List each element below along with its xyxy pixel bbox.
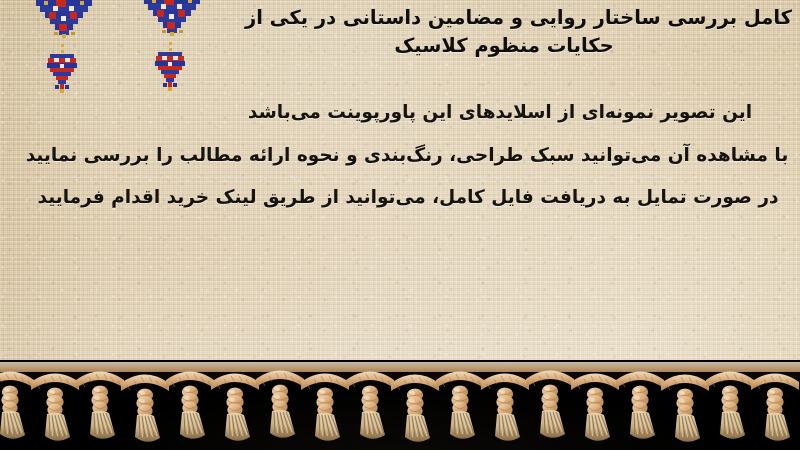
slide-body-line-3: در صورت تمایل به دریافت فایل کامل، می‌تو…: [0, 189, 800, 232]
presentation-slide: کامل بررسی ساختار روایی و مضامین داستانی…: [0, 0, 800, 450]
slide-body-line-1: این تصویر نمونه‌ای از اسلایدهای این پاور…: [0, 104, 800, 147]
bottom-black-field: [0, 360, 800, 450]
slide-title-line-2: حکایات منظوم کلاسیک: [250, 32, 792, 60]
slide-body: این تصویر نمونه‌ای از اسلایدهای این پاور…: [0, 104, 800, 232]
slide-body-line-2: با مشاهده آن می‌توانید سبک طراحی، رنگ‌بن…: [0, 147, 800, 190]
slide-title-line-1: کامل بررسی ساختار روایی و مضامین داستانی…: [250, 4, 792, 32]
slide-title: کامل بررسی ساختار روایی و مضامین داستانی…: [0, 4, 800, 59]
